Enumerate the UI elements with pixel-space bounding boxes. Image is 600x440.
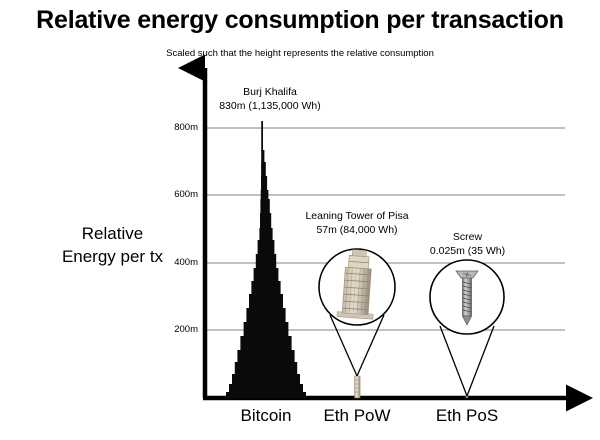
bar-eth-pow-pisa-tower [355, 376, 361, 398]
magnifier-pisa [319, 249, 395, 376]
y-tick-label-600: 600m [152, 189, 198, 200]
chart-container: Relative energy consumption per transact… [0, 0, 600, 440]
x-category-label-eth-pos: Eth PoS [407, 406, 527, 426]
magnifier-screw-cone-right [467, 326, 494, 396]
annotation-burj-khalifa: Burj Khalifa 830m (1,135,000 Wh) [185, 85, 355, 113]
annotation-screw: Screw 0.025m (35 Wh) [405, 230, 530, 258]
bar-bitcoin-burj-khalifa [226, 121, 306, 398]
x-category-label-eth-pow: Eth PoW [297, 406, 417, 426]
annotation-screw-name: Screw [405, 230, 530, 244]
annotation-screw-detail: 0.025m (35 Wh) [405, 244, 530, 258]
annotation-burj-khalifa-name: Burj Khalifa [185, 85, 355, 99]
magnifier-screw-cone-left [440, 326, 467, 396]
annotation-pisa-name: Leaning Tower of Pisa [282, 209, 432, 223]
annotation-burj-khalifa-detail: 830m (1,135,000 Wh) [185, 99, 355, 113]
y-tick-label-800: 800m [152, 122, 198, 133]
magnifier-screw [430, 260, 504, 396]
y-tick-label-200: 200m [152, 324, 198, 335]
y-tick-label-400: 400m [152, 257, 198, 268]
